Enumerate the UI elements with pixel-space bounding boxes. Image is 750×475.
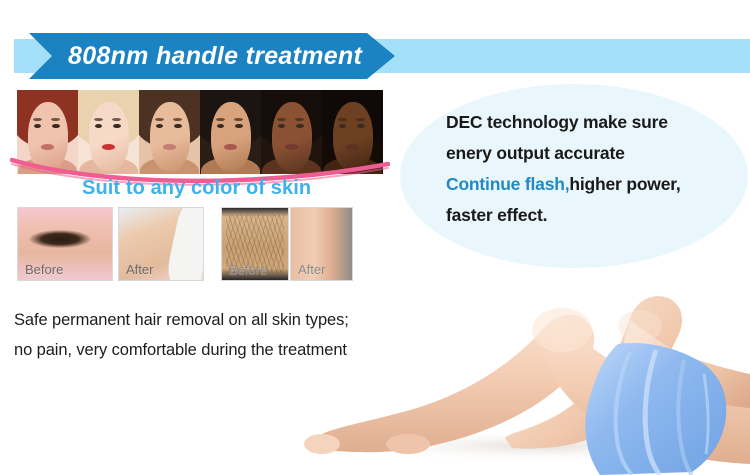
promo-line-2: enery output accurate [446, 138, 746, 169]
face-skin [211, 102, 251, 171]
face-eye [278, 124, 285, 128]
face-skin [272, 102, 312, 171]
face-skin [333, 102, 373, 171]
banner-title: 808nm handle treatment [68, 33, 362, 79]
face-eye [113, 124, 120, 128]
promo-line-4: faster effect. [446, 200, 746, 231]
face-eyebrow [94, 118, 103, 121]
white-cloth [164, 207, 204, 281]
face-eyebrow [338, 118, 347, 121]
face-eye [357, 124, 364, 128]
face-eye [296, 124, 303, 128]
product-marketing-banner: 808nm handle treatment DEC technology ma… [0, 0, 750, 475]
skin-tone-face-strip [17, 90, 383, 174]
face-skin [28, 102, 68, 171]
face-eyebrow [33, 118, 42, 121]
hair-tuft [29, 230, 91, 249]
suit-to-any-skin-caption: Suit to any color of skin [82, 177, 311, 200]
face-eyebrow [112, 118, 121, 121]
header-banner: 808nm handle treatment [0, 33, 750, 79]
before-after-label: After [126, 262, 153, 277]
face-eye [174, 124, 181, 128]
promo-line-3-accent: Continue flash, [446, 174, 569, 194]
face-eyebrow [173, 118, 182, 121]
face-eye [52, 124, 59, 128]
before-after-label: Before [229, 262, 267, 277]
before-after-label: Before [25, 262, 63, 277]
face-lips [102, 144, 114, 150]
face-eye [95, 124, 102, 128]
promo-line-1: DEC technology make sure [446, 107, 746, 138]
face-eyebrow [356, 118, 365, 121]
face-skin [150, 102, 190, 171]
face-photo-light-tan [139, 90, 200, 174]
face-eye [217, 124, 224, 128]
ba-armpit-after: After [118, 207, 204, 281]
face-eyebrow [295, 118, 304, 121]
face-eye [156, 124, 163, 128]
face-photo-redhead [17, 90, 78, 174]
legs-treatment-photo [300, 268, 750, 475]
face-photo-dark-skin [261, 90, 322, 174]
face-photo-deep-skin [322, 90, 383, 174]
legs-illustration-svg [300, 268, 750, 475]
face-lips [41, 144, 53, 150]
promo-line-3-rest: higher power, [569, 174, 680, 194]
promo-copy-block: DEC technology make sure enery output ac… [446, 107, 746, 231]
face-lips [285, 144, 297, 150]
face-photo-asian [200, 90, 261, 174]
face-eye [339, 124, 346, 128]
face-lips [346, 144, 358, 150]
face-eyebrow [51, 118, 60, 121]
promo-line-3: Continue flash,higher power, [446, 169, 746, 200]
face-eyebrow [277, 118, 286, 121]
face-eyebrow [216, 118, 225, 121]
face-eye [235, 124, 242, 128]
face-eyebrow [234, 118, 243, 121]
face-eye [34, 124, 41, 128]
ba-leg-before: Before [221, 207, 289, 281]
face-skin [89, 102, 129, 171]
face-eyebrow [155, 118, 164, 121]
face-photo-fair-blonde [78, 90, 139, 174]
face-lips [224, 144, 236, 150]
ba-armpit-before: Before [17, 207, 113, 281]
face-lips [163, 144, 175, 150]
